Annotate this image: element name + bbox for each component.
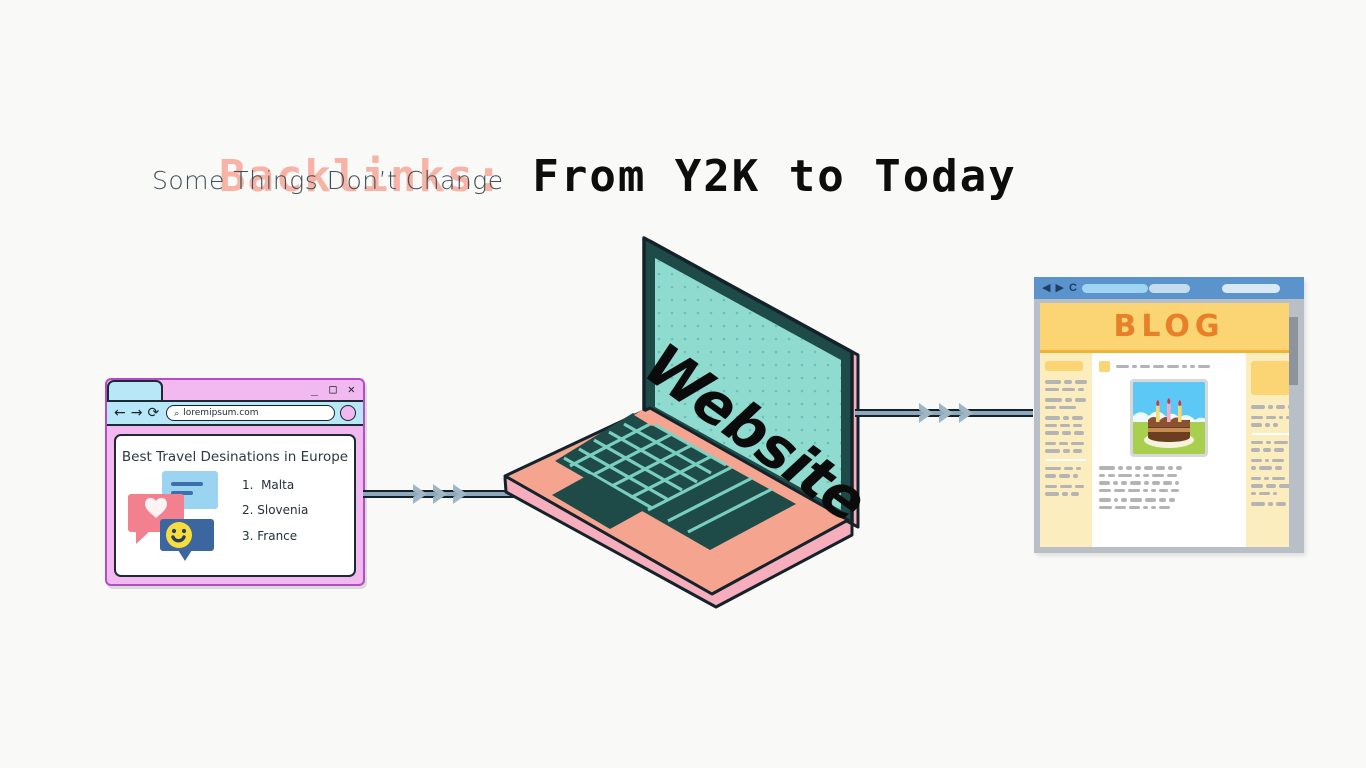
forward-arrow-icon[interactable]: ▶ [1055, 283, 1063, 294]
back-arrow-icon[interactable]: ◀ [1042, 283, 1050, 294]
destination-list: 1. Malta 2. Slovenia 3. France [236, 473, 354, 549]
laptop-illustration [500, 232, 880, 617]
chevron-right-icon [431, 482, 453, 506]
chevron-right-icon [451, 482, 473, 506]
navy-smiley-bubble-icon [160, 519, 214, 551]
blog-browser-window[interactable]: ◀ ▶ C BLOG [1034, 277, 1304, 553]
sidebar-heading-block [1045, 361, 1083, 371]
url-bar[interactable]: ⌕ loremipsum.com [166, 405, 335, 421]
list-item: 1. Malta [242, 473, 354, 498]
browser-tab-strip: _ □ ✕ [107, 380, 363, 400]
sidebar-ad-block [1251, 361, 1291, 395]
chevron-right-icon [937, 401, 959, 425]
reload-icon[interactable]: ⟳ [147, 406, 159, 420]
article-title: Best Travel Desinations in Europe [116, 449, 354, 465]
address-bar[interactable] [1082, 284, 1148, 293]
connector-right [855, 409, 1033, 417]
scrollbar-thumb[interactable] [1289, 317, 1298, 385]
title-main-text: From Y2K to Today [504, 151, 1017, 202]
forward-arrow-icon[interactable]: → [131, 406, 143, 420]
browser-tab[interactable] [107, 380, 163, 400]
infographic-canvas: Backlinks: From Y2K to Today Some Things… [0, 0, 1366, 768]
list-item: 2. Slovenia [242, 498, 354, 523]
browser-page-content: Best Travel Desinations in Europe [114, 434, 356, 577]
article-body: 1. Malta 2. Slovenia 3. France [116, 471, 354, 551]
blog-left-sidebar [1040, 353, 1092, 547]
chat-bubbles-illustration [124, 471, 236, 551]
blog-banner-title: BLOG [1113, 309, 1224, 344]
reload-icon[interactable]: C [1069, 283, 1077, 294]
post-heading-row [1099, 361, 1239, 372]
sidebar-divider [1046, 459, 1086, 461]
list-item: 3. France [242, 524, 354, 549]
post-bullet-block [1099, 361, 1110, 372]
scrollbar[interactable] [1289, 303, 1298, 547]
url-text: loremipsum.com [183, 408, 258, 418]
sidebar-divider [1252, 433, 1292, 435]
post-body-text [1099, 466, 1239, 509]
chevron-right-icon [917, 401, 939, 425]
blog-banner: BLOG [1040, 303, 1298, 353]
connector-left [363, 490, 515, 498]
blog-page: BLOG [1040, 303, 1298, 547]
retro-browser-window[interactable]: _ □ ✕ ← → ⟳ ⌕ loremipsum.com Best Travel… [105, 378, 365, 586]
address-bar-remainder [1149, 284, 1190, 293]
browser-toolbar: ← → ⟳ ⌕ loremipsum.com [107, 400, 363, 426]
page-subtitle: Some Things Don’t Change [152, 166, 504, 195]
chevron-right-icon [957, 401, 979, 425]
chevron-right-icon [411, 482, 433, 506]
birthday-cake-image [1130, 379, 1208, 457]
blog-title-bar: ◀ ▶ C [1034, 277, 1304, 299]
avatar[interactable] [340, 405, 356, 421]
blog-main-column [1092, 353, 1246, 547]
window-controls[interactable]: _ □ ✕ [311, 382, 357, 396]
back-arrow-icon[interactable]: ← [114, 406, 126, 420]
blog-columns [1040, 353, 1298, 547]
secondary-bar[interactable] [1222, 284, 1280, 293]
search-icon: ⌕ [174, 408, 179, 419]
